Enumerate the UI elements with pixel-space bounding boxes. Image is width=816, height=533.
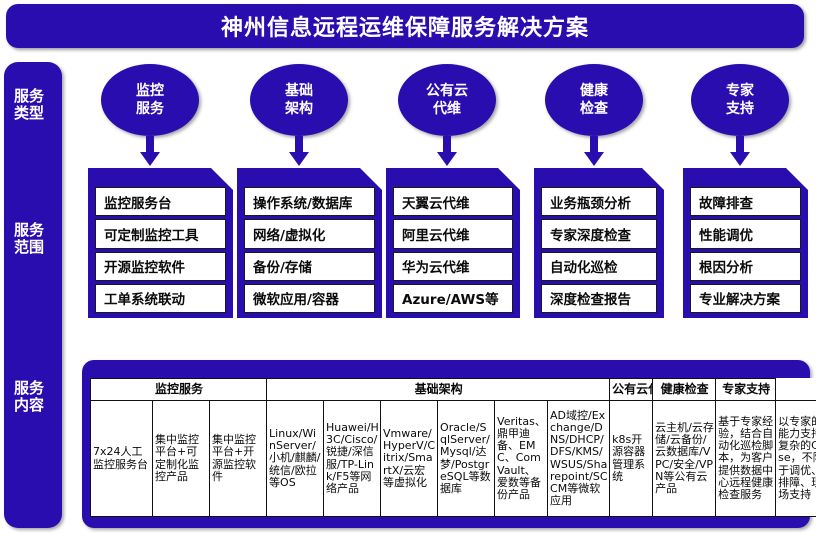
scope-item[interactable]: 华为云代维 — [393, 252, 513, 281]
table-group-header: 基础架构 — [267, 379, 610, 401]
scope-item[interactable]: 故障排查 — [690, 187, 801, 216]
category-ellipse-public-cloud[interactable]: 公有云代维 — [398, 64, 496, 136]
table-cell: Huawei/H3C/Cisco/锐捷/深信服/TP-Link/F5等网络产品 — [324, 401, 381, 517]
solution-diagram: 神州信息远程运维保障服务解决方案 服务 类型 服务 范围 服务 内容 监控服务基… — [0, 0, 816, 533]
scope-item[interactable]: 专家深度检查 — [541, 219, 657, 248]
scope-item[interactable]: 专业解决方案 — [690, 284, 801, 313]
sidebar-item-service-type-line2: 类型 — [0, 105, 58, 122]
sidebar-item-service-scope-line1: 服务 — [0, 222, 58, 239]
sidebar-item-service-content-line2: 内容 — [0, 397, 58, 414]
scope-item[interactable]: 开源监控软件 — [95, 252, 226, 281]
table-cell: 云主机/云存储/云备份/云数据库/VPC/安全/VPN等公有云产品 — [653, 401, 716, 517]
sidebar-item-service-scope-line2: 范围 — [0, 239, 58, 256]
scope-item[interactable]: 备份/存储 — [244, 252, 375, 281]
scope-item[interactable]: 监控服务台 — [95, 187, 226, 216]
scope-item[interactable]: Azure/AWS等 — [393, 284, 513, 313]
down-arrow-icon-infrastructure — [289, 136, 309, 166]
down-arrow-icon-monitoring — [140, 136, 160, 166]
scope-card-monitoring: 监控服务台可定制监控工具开源监控软件工单系统联动 — [88, 168, 233, 318]
scope-item[interactable]: 可定制监控工具 — [95, 219, 226, 248]
sidebar — [4, 62, 62, 528]
scope-item[interactable]: 网络/虚拟化 — [244, 219, 375, 248]
scope-item[interactable]: 业务瓶颈分析 — [541, 187, 657, 216]
table-cell: 以专家的能力支持复杂的Case，不限于调优、排障、现场支持 — [776, 401, 816, 517]
sidebar-item-service-type-line1: 服务 — [0, 88, 58, 105]
category-ellipse-infrastructure[interactable]: 基础架构 — [250, 64, 348, 136]
scope-item[interactable]: 微软应用/容器 — [244, 284, 375, 313]
down-arrow-icon-health-check — [584, 136, 604, 166]
sidebar-item-service-type: 服务 类型 — [0, 88, 58, 122]
scope-item[interactable]: 深度检查报告 — [541, 284, 657, 313]
category-ellipse-expert-support[interactable]: 专家支持 — [691, 64, 789, 136]
scope-item[interactable]: 工单系统联动 — [95, 284, 226, 313]
table-cell: 集中监控平台+可定制化监控产品 — [153, 401, 210, 517]
table-header-row: 监控服务基础架构公有云代维健康检查专家支持 — [91, 379, 816, 401]
table-cell: Veritas、鼎甲迪备、EMC、ComVault、爱数等备份产品 — [495, 401, 548, 517]
table-group-header: 健康检查 — [653, 379, 716, 401]
table-cell: Oracle/SqlServer/Mysql/达梦/PostgreSQL等数据库 — [438, 401, 495, 517]
service-content-table: 监控服务基础架构公有云代维健康检查专家支持 7x24人工监控服务台集中监控平台+… — [90, 378, 816, 517]
scope-item[interactable]: 天翼云代维 — [393, 187, 513, 216]
category-ellipse-label-line2: 架构 — [285, 100, 313, 118]
down-arrow-icon-expert-support — [730, 136, 750, 166]
page-title-banner: 神州信息远程运维保障服务解决方案 — [6, 4, 804, 48]
category-ellipse-health-check[interactable]: 健康检查 — [545, 64, 643, 136]
category-ellipse-label-line2: 代维 — [433, 100, 461, 118]
category-ellipse-label-line1: 专家 — [726, 82, 754, 100]
scope-card-health-check: 业务瓶颈分析专家深度检查自动化巡检深度检查报告 — [534, 168, 664, 318]
service-content-panel: 监控服务基础架构公有云代维健康检查专家支持 7x24人工监控服务台集中监控平台+… — [82, 360, 810, 528]
category-ellipse-label-line1: 监控 — [136, 82, 164, 100]
down-arrow-icon-public-cloud — [437, 136, 457, 166]
category-ellipse-monitoring[interactable]: 监控服务 — [101, 64, 199, 136]
table-row: 7x24人工监控服务台集中监控平台+可定制化监控产品集中监控平台+开源监控软件L… — [91, 401, 816, 517]
scope-card-expert-support: 故障排查性能调优根因分析专业解决方案 — [683, 168, 808, 318]
page-title: 神州信息远程运维保障服务解决方案 — [221, 10, 589, 42]
category-ellipse-label-line2: 支持 — [726, 100, 754, 118]
category-ellipse-label-line2: 服务 — [136, 100, 164, 118]
scope-item[interactable]: 性能调优 — [690, 219, 801, 248]
category-ellipse-label-line2: 检查 — [580, 100, 608, 118]
table-group-header: 监控服务 — [91, 379, 267, 401]
table-cell: k8s开源容器管理系统 — [610, 401, 653, 517]
scope-item[interactable]: 阿里云代维 — [393, 219, 513, 248]
table-cell: 集中监控平台+开源监控软件 — [210, 401, 267, 517]
table-group-header: 公有云代维 — [610, 379, 653, 401]
table-cell: Linux/WinServer/小机/麒麟/统信/欧拉等OS — [267, 401, 324, 517]
table-cell: 7x24人工监控服务台 — [91, 401, 153, 517]
category-ellipse-label-line1: 公有云 — [426, 82, 468, 100]
scope-item[interactable]: 根因分析 — [690, 252, 801, 281]
table-cell: Vmware/HyperV/Citrix/SmartX/云宏等虚拟化 — [381, 401, 438, 517]
sidebar-item-service-scope: 服务 范围 — [0, 222, 58, 256]
scope-item[interactable]: 操作系统/数据库 — [244, 187, 375, 216]
table-group-header: 专家支持 — [716, 379, 776, 401]
category-ellipse-label-line1: 基础 — [285, 82, 313, 100]
scope-item[interactable]: 自动化巡检 — [541, 252, 657, 281]
scope-card-infrastructure: 操作系统/数据库网络/虚拟化备份/存储微软应用/容器 — [237, 168, 382, 318]
sidebar-item-service-content: 服务 内容 — [0, 380, 58, 414]
category-ellipse-label-line1: 健康 — [580, 82, 608, 100]
sidebar-item-service-content-line1: 服务 — [0, 380, 58, 397]
scope-card-public-cloud: 天翼云代维阿里云代维华为云代维Azure/AWS等 — [386, 168, 520, 318]
table-cell: AD域控/Exchange/DNS/DHCP/DFS/KMS/WSUS/Shar… — [548, 401, 610, 517]
table-cell: 基于专家经验，结合自动化巡检脚本，为客户提供数据中心远程健康检查服务 — [716, 401, 776, 517]
